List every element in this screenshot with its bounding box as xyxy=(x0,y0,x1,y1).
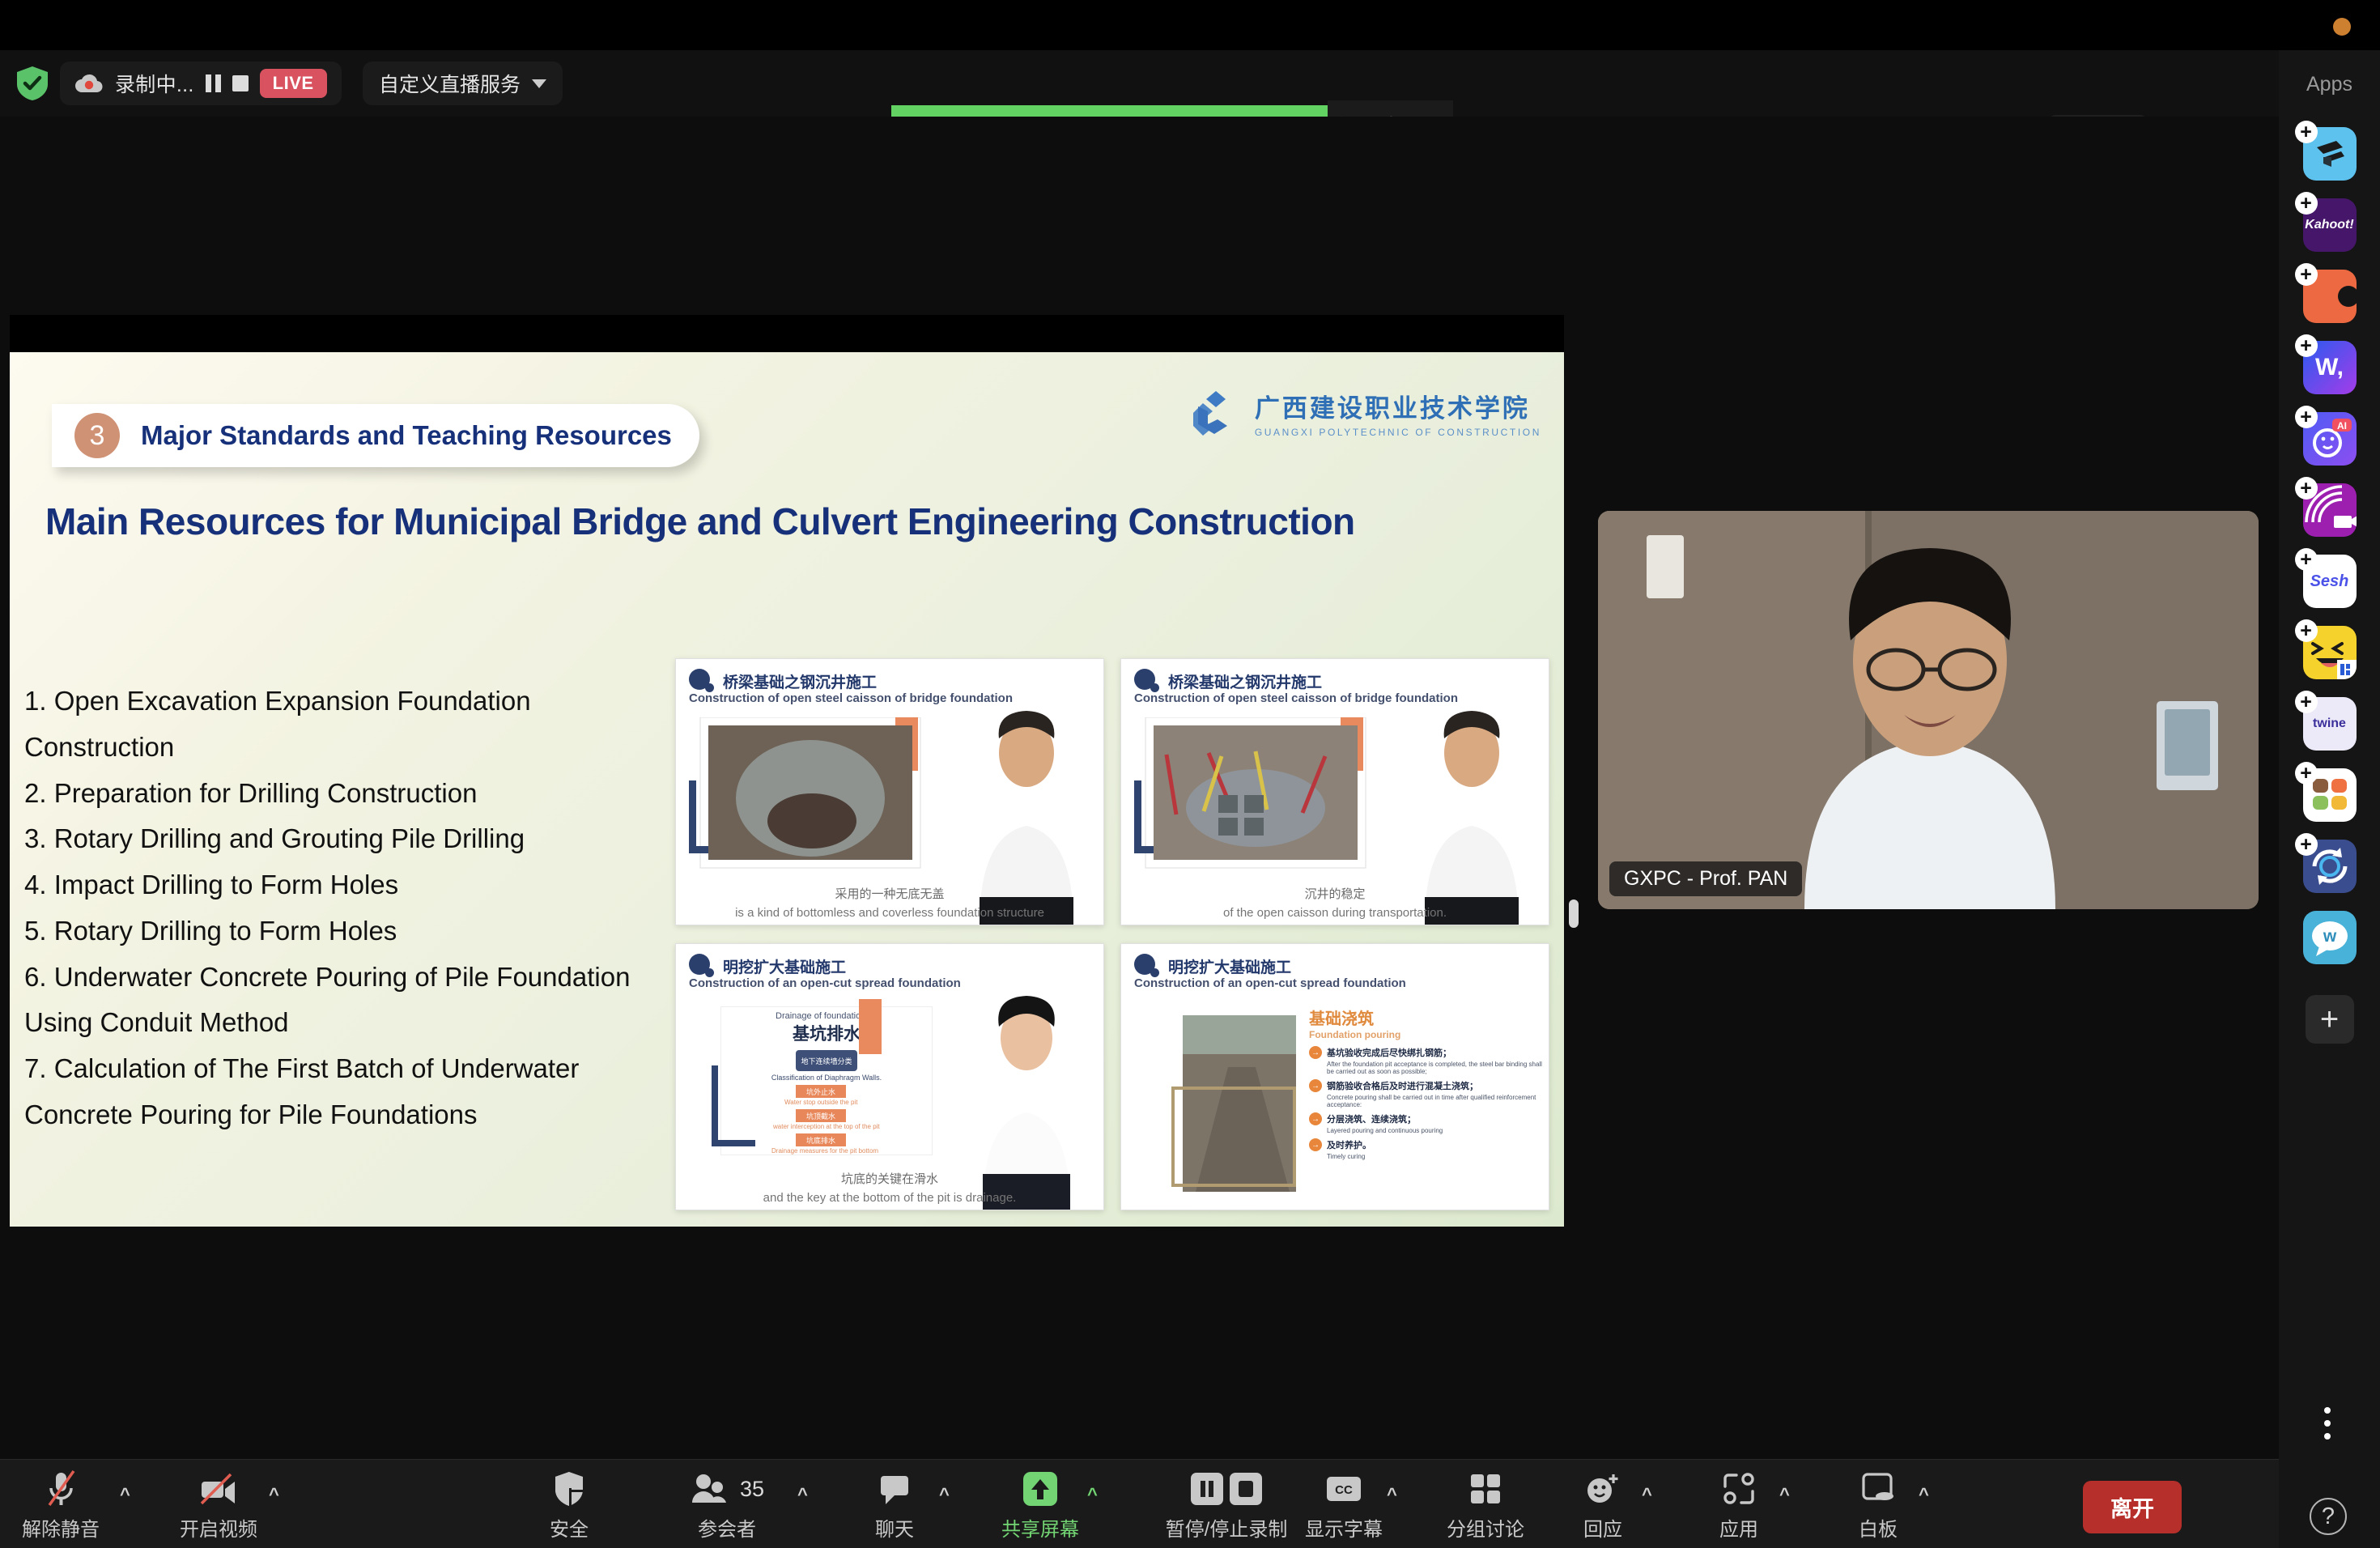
toolbar-breakout-rooms-label: 分组讨论 xyxy=(1447,1513,1524,1542)
app-tile-puzzle[interactable]: + xyxy=(2303,270,2357,323)
toolbar-share-screen-button[interactable]: 共享屏幕 xyxy=(980,1468,1101,1542)
add-app-icon[interactable]: + xyxy=(2295,548,2318,571)
diagram-title-cn: 基坑排水 xyxy=(721,1021,932,1045)
pause-stop-icon xyxy=(1189,1468,1264,1510)
help-icon[interactable]: ? xyxy=(2310,1498,2347,1535)
add-app-icon[interactable]: + xyxy=(2295,334,2318,357)
leave-meeting-button[interactable]: 离开 xyxy=(2083,1481,2182,1533)
toolbar-start-video-label: 开启视频 xyxy=(180,1513,257,1542)
smiley-plus-icon xyxy=(1583,1468,1622,1510)
meeting-toolbar: 解除静音 ^ 开启视频 ^ 安全 35 参会者 ^ xyxy=(0,1459,2279,1548)
participants-icon: 35 xyxy=(690,1468,764,1510)
app-tile-warmly[interactable]: w xyxy=(2303,911,2357,964)
add-more-apps-label: + xyxy=(2320,1002,2339,1038)
meeting-stage: 广西建设职业技术学院 GUANGXI POLYTECHNIC OF CONSTR… xyxy=(0,117,2279,1434)
recording-status-pill: 录制中... LIVE xyxy=(60,62,342,105)
list-item: 3. Rotary Drilling and Grouting Pile Dri… xyxy=(24,816,672,862)
video-off-icon xyxy=(197,1468,240,1510)
list-item: 5. Rotary Drilling to Form Holes xyxy=(24,908,672,955)
share-chevron-icon[interactable]: ^ xyxy=(1087,1484,1098,1505)
slide-thumbnail-grid: 桥梁基础之钢沉井施工 Construction of open steel ca… xyxy=(675,658,1549,1227)
pause-recording-button[interactable] xyxy=(206,74,221,92)
diagram-title-en: Drainage of foundation pit xyxy=(721,1011,932,1021)
custom-livestream-pill[interactable]: 自定义直播服务 xyxy=(363,62,563,105)
school-name-en: GUANGXI POLYTECHNIC OF CONSTRUCTION xyxy=(1255,427,1541,438)
thumb-title-cn: 明挖扩大基础施工 xyxy=(1168,955,1291,977)
recording-label: 录制中... xyxy=(115,69,194,98)
arrow-icon: → xyxy=(1309,1046,1322,1059)
thumb-title-cn: 桥梁基础之钢沉井施工 xyxy=(723,670,877,692)
diagram-rows: 坑外止水 Water stop outside the pit 坑顶截水 wat… xyxy=(796,1085,932,1155)
apps-sidebar-title: Apps xyxy=(2279,73,2380,96)
presentation-slide: 广西建设职业技术学院 GUANGXI POLYTECHNIC OF CONSTR… xyxy=(10,352,1564,1227)
thumb-title-cn: 桥梁基础之钢沉井施工 xyxy=(1168,670,1322,692)
toolbar-unmute-label: 解除静音 xyxy=(22,1513,100,1542)
encryption-shield-icon[interactable] xyxy=(15,65,50,102)
add-app-icon[interactable]: + xyxy=(2295,833,2318,856)
thumb-photo-4 xyxy=(1171,1015,1309,1201)
school-logo: 广西建设职业技术学院 GUANGXI POLYTECHNIC OF CONSTR… xyxy=(1192,388,1541,438)
svg-text:CC: CC xyxy=(1335,1483,1353,1497)
more-options-icon[interactable] xyxy=(2324,1407,2331,1440)
diagram-row-cn: 坑外止水 xyxy=(796,1085,846,1098)
thumbnail-video-4[interactable]: 明挖扩大基础施工 Construction of an open-cut spr… xyxy=(1120,943,1549,1210)
window-dot-icon[interactable] xyxy=(2333,18,2351,36)
add-app-icon[interactable]: + xyxy=(2295,619,2318,642)
whiteboard-chevron-icon[interactable]: ^ xyxy=(1919,1484,1929,1505)
shared-screen-surface[interactable]: 广西建设职业技术学院 GUANGXI POLYTECHNIC OF CONSTR… xyxy=(10,315,1564,1197)
app-tile-recording[interactable]: + xyxy=(2303,483,2357,537)
thumb-photo-2 xyxy=(1134,717,1377,879)
apps-chevron-icon[interactable]: ^ xyxy=(1779,1484,1790,1505)
toolbar-share-screen-label: 共享屏幕 xyxy=(1001,1513,1079,1542)
bullet-cn: 及时养护。 xyxy=(1327,1138,1371,1151)
slide-section-badge: 3 Major Standards and Teaching Resources xyxy=(52,404,699,467)
thumb-title-en: Construction of an open-cut spread found… xyxy=(689,976,961,990)
logo-mark-icon xyxy=(1192,389,1240,437)
bullet-en: Layered pouring and continuous pouring xyxy=(1327,1127,1544,1134)
participants-chevron-icon[interactable]: ^ xyxy=(797,1484,808,1505)
thumb-caption-en: is a kind of bottomless and coverless fo… xyxy=(676,906,1103,920)
participant-video-feed xyxy=(1598,511,2259,909)
app-tile-wooclap[interactable]: + W, xyxy=(2303,341,2357,394)
warmly-icon: w xyxy=(2303,911,2357,964)
add-more-apps-button[interactable]: + xyxy=(2306,995,2354,1044)
add-app-icon[interactable]: + xyxy=(2295,762,2318,785)
toolbar-breakout-rooms-button[interactable]: 分组讨论 xyxy=(1425,1468,1546,1542)
cc-icon: CC xyxy=(1323,1468,1365,1510)
list-item: 2. Preparation for Drilling Construction xyxy=(24,771,672,817)
app-tile-kahoot[interactable]: + Kahoot! xyxy=(2303,198,2357,252)
thumb-caption-cn: 坑底的关键在滑水 xyxy=(676,1170,1103,1187)
reactions-chevron-icon[interactable]: ^ xyxy=(1642,1484,1652,1505)
chat-icon xyxy=(877,1468,912,1510)
toolbar-start-video-button[interactable]: 开启视频 xyxy=(158,1468,279,1542)
thumb-title-en: Construction of open steel caisson of br… xyxy=(689,691,1013,705)
diagram-row-en: Drainage measures for the pit bottom xyxy=(771,1147,932,1155)
add-app-icon[interactable]: + xyxy=(2295,192,2318,215)
thumb-caption-en: of the open caisson during transportatio… xyxy=(1121,906,1549,920)
pouring-title-cn: 基础浇筑 xyxy=(1309,1006,1544,1029)
participant-name-tag: GXPC - Prof. PAN xyxy=(1609,861,1802,896)
svg-text:AI: AI xyxy=(2337,420,2347,432)
mic-off-icon xyxy=(43,1468,79,1510)
bullet-cn: 分层浇筑、连续浇筑； xyxy=(1327,1112,1416,1125)
diagram-row-cn: 坑底排水 xyxy=(796,1133,846,1146)
bullet-en: After the foundation pit acceptance is c… xyxy=(1327,1061,1544,1075)
audio-options-chevron-icon[interactable]: ^ xyxy=(120,1484,130,1505)
meeting-topbar: 录制中... LIVE 自定义直播服务 你正在观看 Go Study 的屏幕 视… xyxy=(0,50,2279,117)
diagram-row-cn: 坑顶截水 xyxy=(796,1109,846,1122)
bullet-cn: 钢筋验收合格后及时进行混凝土浇筑； xyxy=(1327,1079,1478,1092)
thumbnail-video-2[interactable]: 桥梁基础之钢沉井施工 Construction of open steel ca… xyxy=(1120,658,1549,925)
toolbar-whiteboard-label: 白板 xyxy=(1859,1513,1898,1542)
pause-icon xyxy=(206,74,221,92)
add-app-icon[interactable]: + xyxy=(2295,406,2318,428)
bullet-en: Timely curing xyxy=(1327,1153,1544,1160)
thumb-corner-accent-3 xyxy=(708,1065,757,1159)
share-arrow-icon xyxy=(1022,1468,1059,1510)
grid-icon xyxy=(1468,1468,1503,1510)
chevron-down-icon[interactable] xyxy=(532,79,546,88)
twine-label: twine xyxy=(2313,717,2346,731)
window-titlebar xyxy=(0,0,2380,50)
app-tile-sync[interactable]: + xyxy=(2303,840,2357,893)
list-item: 7. Calculation of The First Batch of Und… xyxy=(24,1046,672,1138)
toolbar-captions-label: 显示字幕 xyxy=(1305,1513,1383,1542)
arrow-icon: → xyxy=(1309,1112,1322,1125)
share-scroll-handle[interactable] xyxy=(1569,899,1579,928)
toolbar-apps-label: 应用 xyxy=(1719,1513,1758,1542)
bullet-en: Concrete pouring shall be carried out in… xyxy=(1327,1094,1544,1108)
section-label: Major Standards and Teaching Resources xyxy=(141,420,672,451)
add-app-icon[interactable]: + xyxy=(2295,477,2318,500)
thumb-caption-cn: 采用的一种无底无盖 xyxy=(676,885,1103,902)
thumb-caption-en: and the key at the bottom of the pit is … xyxy=(676,1191,1103,1205)
thumb-title-en: Construction of an open-cut spread found… xyxy=(1134,976,1406,990)
section-number: 3 xyxy=(74,413,120,458)
list-item: 6. Underwater Concrete Pouring of Pile F… xyxy=(24,955,672,1047)
toolbar-participants-label: 参会者 xyxy=(698,1513,756,1542)
toolbar-pause-stop-recording-label: 暂停/停止录制 xyxy=(1166,1513,1288,1542)
live-badge: LIVE xyxy=(260,69,327,98)
app-tile-figma[interactable]: + xyxy=(2303,127,2357,181)
slide-title: Main Resources for Municipal Bridge and … xyxy=(45,500,1502,543)
thumb-title-en: Construction of open steel caisson of br… xyxy=(1134,691,1458,705)
toolbar-chat-button[interactable]: 聊天 xyxy=(834,1468,955,1542)
app-tile-laughly[interactable]: + xyxy=(2303,626,2357,679)
captions-chevron-icon[interactable]: ^ xyxy=(1387,1484,1397,1505)
diagram-row-en: Water stop outside the pit xyxy=(784,1099,932,1106)
toolbar-reactions-label: 回应 xyxy=(1583,1513,1622,1542)
toolbar-security-button[interactable]: 安全 xyxy=(508,1468,630,1542)
stop-icon xyxy=(232,75,249,91)
arrow-icon: → xyxy=(1309,1138,1322,1151)
list-item: 1. Open Excavation Expansion Foundation … xyxy=(24,678,672,771)
app-tile-sesh[interactable]: + Sesh xyxy=(2303,555,2357,608)
toolbar-security-label: 安全 xyxy=(550,1513,589,1542)
thumb-bullets-4: 基础浇筑 Foundation pouring →基坑验收完成后尽快绑扎钢筋； … xyxy=(1309,1006,1544,1160)
thumb-orange-accent-3 xyxy=(859,999,885,1057)
diagram-row-en: water interception at the top of the pit xyxy=(773,1123,932,1130)
app-tile-blocks[interactable]: + xyxy=(2303,768,2357,822)
apps-list: + + Kahoot! + + W, + xyxy=(2279,127,2380,1044)
app-tile-twine[interactable]: + twine xyxy=(2303,697,2357,751)
arrow-icon: → xyxy=(1309,1079,1322,1092)
school-logo-text: 广西建设职业技术学院 GUANGXI POLYTECHNIC OF CONSTR… xyxy=(1255,388,1541,438)
thumbnail-video-1[interactable]: 桥梁基础之钢沉井施工 Construction of open steel ca… xyxy=(675,658,1104,925)
app-tile-ai-face[interactable]: + AI xyxy=(2303,412,2357,466)
participants-count: 35 xyxy=(740,1477,764,1502)
toolbar-participants-button[interactable]: 35 参会者 xyxy=(666,1468,788,1542)
thumb-caption-cn: 沉井的稳定 xyxy=(1121,885,1549,902)
shield-icon xyxy=(553,1468,585,1510)
chat-chevron-icon[interactable]: ^ xyxy=(939,1484,950,1505)
toolbar-chat-label: 聊天 xyxy=(875,1513,914,1542)
add-app-icon[interactable]: + xyxy=(2295,691,2318,713)
slide-resource-list: 1. Open Excavation Expansion Foundation … xyxy=(24,678,672,1138)
list-item: 4. Impact Drilling to Form Holes xyxy=(24,862,672,908)
sesh-label: Sesh xyxy=(2310,572,2349,591)
svg-text:w: w xyxy=(2322,927,2336,946)
wooclap-label: W, xyxy=(2315,354,2344,381)
apps-sidebar: Apps + + Kahoot! + + W, xyxy=(2279,50,2380,1548)
thumb-title-cn: 明挖扩大基础施工 xyxy=(723,955,846,977)
toolbar-unmute-button[interactable]: 解除静音 xyxy=(0,1468,121,1542)
pouring-title-en: Foundation pouring xyxy=(1309,1029,1544,1040)
bullet-cn: 基坑验收完成后尽快绑扎钢筋； xyxy=(1327,1046,1451,1059)
whiteboard-icon xyxy=(1859,1468,1897,1510)
participant-video-tile[interactable]: GXPC - Prof. PAN xyxy=(1598,511,2259,909)
add-app-icon[interactable]: + xyxy=(2295,263,2318,286)
zoom-meeting-window: 录制中... LIVE 自定义直播服务 你正在观看 Go Study 的屏幕 视… xyxy=(0,0,2380,1548)
diagram-box-cn: 地下连续墙分类 xyxy=(796,1050,857,1071)
stop-recording-button[interactable] xyxy=(232,75,249,91)
kahoot-label: Kahoot! xyxy=(2305,218,2353,232)
thumb-photo-1 xyxy=(689,717,932,879)
thumbnail-video-3[interactable]: 明挖扩大基础施工 Construction of an open-cut spr… xyxy=(675,943,1104,1210)
add-app-icon[interactable]: + xyxy=(2295,121,2318,143)
livestream-label: 自定义直播服务 xyxy=(379,69,521,98)
video-options-chevron-icon[interactable]: ^ xyxy=(269,1484,279,1505)
recording-cloud-icon xyxy=(74,72,104,95)
apps-icon xyxy=(1720,1468,1757,1510)
school-name-cn: 广西建设职业技术学院 xyxy=(1255,388,1541,424)
